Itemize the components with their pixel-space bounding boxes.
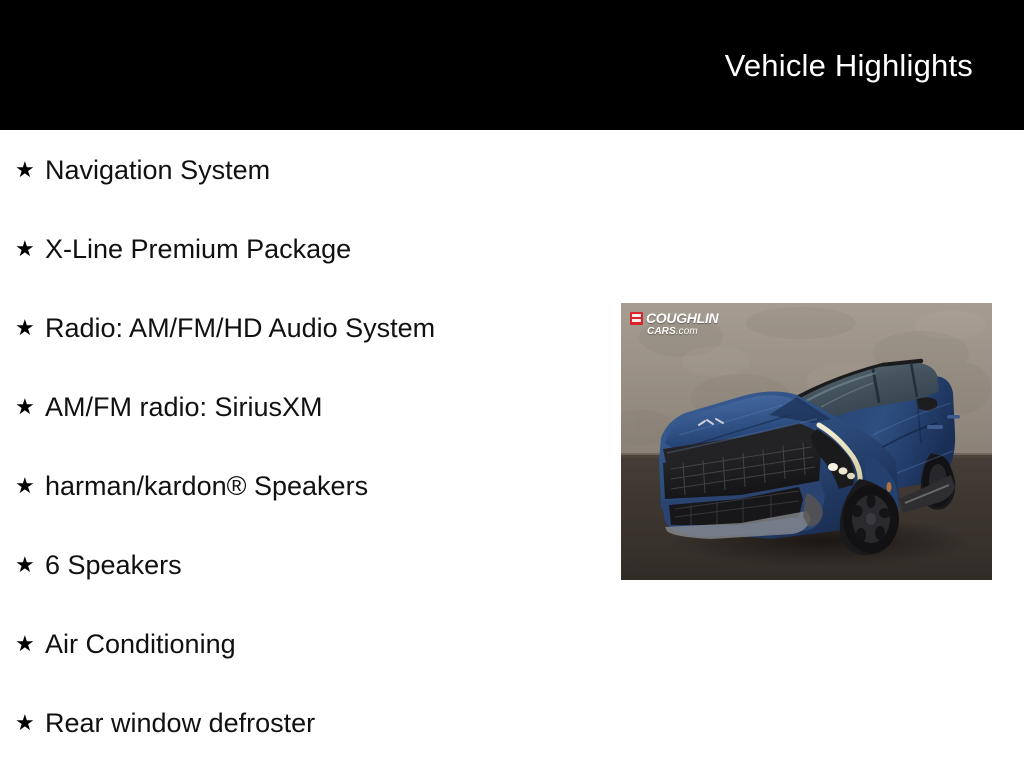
- highlight-label: Navigation System: [45, 154, 620, 186]
- highlight-label: 6 Speakers: [45, 549, 620, 581]
- highlight-label: X-Line Premium Package: [45, 233, 620, 265]
- vehicle-photo-illustration: [621, 303, 992, 580]
- highlight-label: Radio: AM/FM/HD Audio System: [45, 312, 620, 344]
- vehicle-highlights-list: ★ Navigation System ★ X-Line Premium Pac…: [0, 130, 620, 762]
- highlight-label: Air Conditioning: [45, 628, 620, 660]
- header-bar: Vehicle Highlights: [0, 0, 1024, 130]
- star-bullet-icon: ★: [15, 554, 45, 576]
- list-item: ★ X-Line Premium Package: [0, 209, 620, 288]
- highlight-label: AM/FM radio: SiriusXM: [45, 391, 620, 423]
- list-item: ★ Navigation System: [0, 130, 620, 209]
- star-bullet-icon: ★: [15, 475, 45, 497]
- list-item: ★ harman/kardon® Speakers: [0, 446, 620, 525]
- vehicle-photo: COUGHLIN CARS.com: [621, 303, 992, 580]
- list-item: ★ Rear window defroster: [0, 683, 620, 762]
- list-item: ★ 6 Speakers: [0, 525, 620, 604]
- list-item: ★ Air Conditioning: [0, 604, 620, 683]
- star-bullet-icon: ★: [15, 317, 45, 339]
- star-bullet-icon: ★: [15, 712, 45, 734]
- star-bullet-icon: ★: [15, 396, 45, 418]
- star-bullet-icon: ★: [15, 238, 45, 260]
- list-item: ★ Radio: AM/FM/HD Audio System: [0, 288, 620, 367]
- highlight-label: Rear window defroster: [45, 707, 620, 739]
- page-title: Vehicle Highlights: [725, 49, 973, 83]
- star-bullet-icon: ★: [15, 159, 45, 181]
- highlight-label: harman/kardon® Speakers: [45, 470, 620, 502]
- star-bullet-icon: ★: [15, 633, 45, 655]
- list-item: ★ AM/FM radio: SiriusXM: [0, 367, 620, 446]
